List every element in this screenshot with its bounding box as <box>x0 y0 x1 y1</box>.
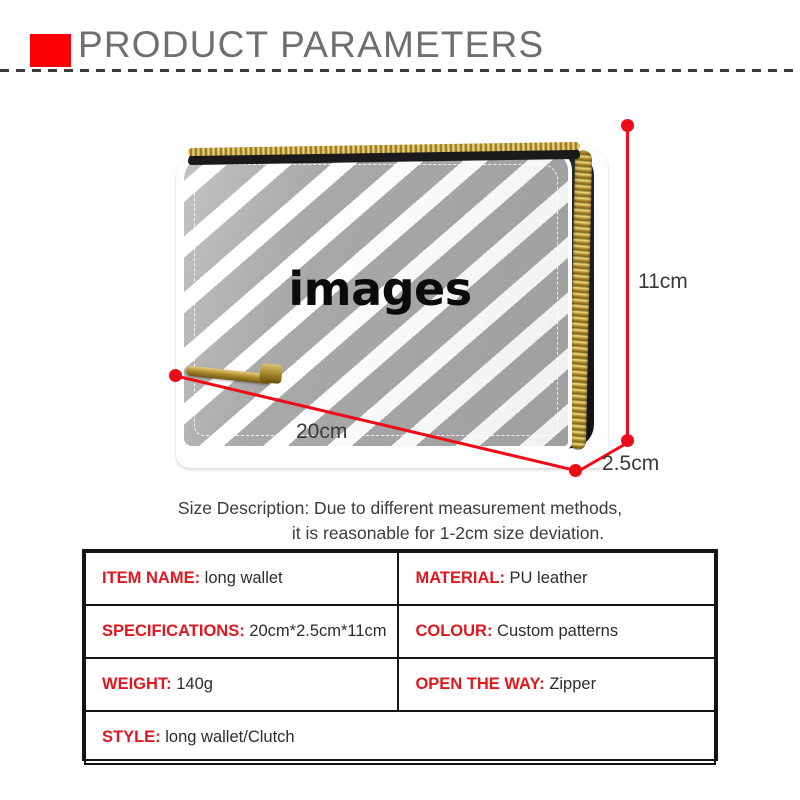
size-description-line2: it is reasonable for 1-2cm size deviatio… <box>100 521 700 546</box>
cell-value: long wallet/Clutch <box>165 728 294 746</box>
height-dimension-endpoint-top <box>621 119 634 132</box>
cell-label: COLOUR: <box>415 622 497 640</box>
table-cell-item-name: ITEM NAME: long wallet <box>85 552 398 605</box>
cell-label: WEIGHT: <box>102 675 176 693</box>
cell-value: PU leather <box>510 569 588 587</box>
specification-table: ITEM NAME: long wallet MATERIAL: PU leat… <box>82 549 718 761</box>
wallet-watermark-text: images <box>184 262 572 316</box>
size-description: Size Description: Due to different measu… <box>100 496 700 546</box>
cell-label: SPECIFICATIONS: <box>102 622 249 640</box>
cell-value: 140g <box>176 675 213 693</box>
cell-label: OPEN THE WAY: <box>415 675 549 693</box>
height-dimension-line <box>626 125 629 441</box>
table-row: ITEM NAME: long wallet MATERIAL: PU leat… <box>85 552 715 605</box>
cell-value: long wallet <box>205 569 283 587</box>
page-header: PRODUCT PARAMETERS <box>0 0 800 80</box>
table-cell-style: STYLE: long wallet/Clutch <box>85 711 715 764</box>
size-description-line1: Size Description: Due to different measu… <box>178 498 622 518</box>
table-cell-specifications: SPECIFICATIONS: 20cm*2.5cm*11cm <box>85 605 398 658</box>
table-cell-material: MATERIAL: PU leather <box>398 552 715 605</box>
cell-label: ITEM NAME: <box>102 569 205 587</box>
cell-value: Custom patterns <box>497 622 618 640</box>
cell-value: Zipper <box>549 675 596 693</box>
wallet-front-face: images <box>180 150 572 450</box>
width-dimension-label: 20cm <box>296 420 347 444</box>
cell-label: MATERIAL: <box>415 569 509 587</box>
zipper-slider-icon <box>259 363 283 384</box>
cell-label: STYLE: <box>102 728 165 746</box>
header-marker-square <box>30 34 71 67</box>
product-parameters-page: PRODUCT PARAMETERS images 11cm <box>0 0 800 800</box>
depth-dimension-label: 2.5cm <box>602 452 659 476</box>
product-image-area: images 11cm 20cm 2.5cm <box>90 100 710 490</box>
table-row: SPECIFICATIONS: 20cm*2.5cm*11cm COLOUR: … <box>85 605 715 658</box>
table-cell-colour: COLOUR: Custom patterns <box>398 605 715 658</box>
table-cell-open-the-way: OPEN THE WAY: Zipper <box>398 658 715 711</box>
page-title: PRODUCT PARAMETERS <box>78 24 544 66</box>
height-dimension-label: 11cm <box>638 270 688 294</box>
wallet-product-image: images <box>174 132 610 460</box>
table-row: WEIGHT: 140g OPEN THE WAY: Zipper <box>85 658 715 711</box>
width-dimension-endpoint-left <box>169 369 182 382</box>
table-cell-weight: WEIGHT: 140g <box>85 658 398 711</box>
cell-value: 20cm*2.5cm*11cm <box>249 622 386 640</box>
header-dashed-divider <box>0 69 800 72</box>
table-row: STYLE: long wallet/Clutch <box>85 711 715 764</box>
